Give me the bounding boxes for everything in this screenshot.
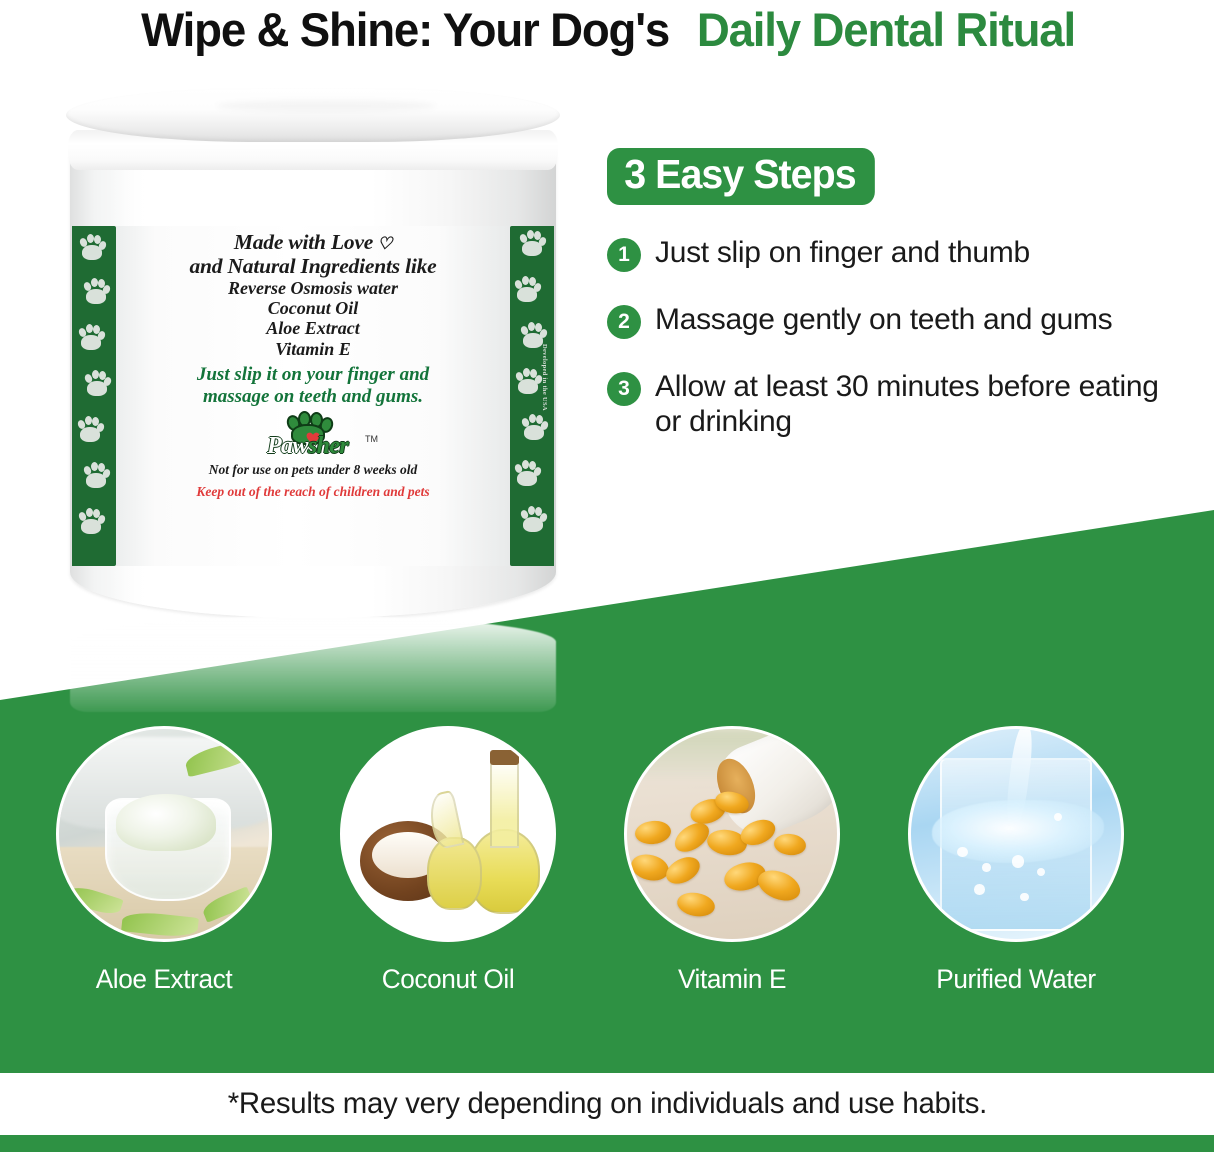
paw-print-icon <box>77 416 103 446</box>
page-title: Wipe & Shine: Your Dog's Daily Dental Ri… <box>0 0 1214 58</box>
headline-green-part: Daily Dental Ritual <box>697 6 1075 53</box>
jar-lid <box>66 88 560 142</box>
label-ingredient-item: Reverse Osmosis water <box>116 278 510 298</box>
paw-print-icon <box>521 414 547 444</box>
paw-print-icon <box>514 460 540 490</box>
paw-print-icon <box>78 324 104 354</box>
paw-print-icon <box>83 278 109 308</box>
product-jar: Made with Love♡ and Natural Ingredients … <box>58 88 568 678</box>
paw-print-icon <box>79 234 105 264</box>
headline-dark-part: Wipe & Shine: Your Dog's <box>141 6 669 53</box>
jar-lid-highlight <box>216 100 436 112</box>
paw-print-icon <box>515 368 541 398</box>
jar-label-face: Made with Love♡ and Natural Ingredients … <box>116 226 510 566</box>
label-instruction-line1: Just slip it on your finger and <box>116 364 510 386</box>
step-text: Just slip on finger and thumb <box>655 235 1030 270</box>
paw-print-icon <box>78 508 104 538</box>
label-ingredient-item: Vitamin E <box>116 339 510 359</box>
label-made-with-love: Made with Love♡ <box>116 230 510 254</box>
heart-icon: ♡ <box>377 234 392 253</box>
ingredient-card-purified-water: Purified Water <box>900 726 1132 1026</box>
step-item: 3 Allow at least 30 minutes before eatin… <box>607 369 1197 440</box>
jar-reflection <box>70 616 556 712</box>
ingredient-label: Coconut Oil <box>335 964 560 995</box>
ingredient-label: Aloe Extract <box>51 964 276 995</box>
paw-print-icon <box>83 462 109 492</box>
steps-panel: 3 Easy Steps 1 Just slip on finger and t… <box>607 148 1197 440</box>
vitamin-e-image <box>624 726 840 942</box>
label-natural-ingredients: and Natural Ingredients like <box>116 254 510 278</box>
brand-name-part1: Paw <box>267 433 308 459</box>
infographic-page: Wipe & Shine: Your Dog's Daily Dental Ri… <box>0 0 1214 1152</box>
step-number-badge: 3 <box>607 372 641 406</box>
paw-print-icon <box>520 506 546 536</box>
brand-name: Pawsher <box>267 433 348 460</box>
disclaimer-text: *Results may very depending on individua… <box>227 1087 986 1121</box>
ingredients-row: Aloe Extract Coconut Oil <box>0 726 1214 1026</box>
label-paw-strip-left <box>72 226 116 566</box>
label-caution: Keep out of the reach of children and pe… <box>116 484 510 499</box>
disclaimer-band: *Results may very depending on individua… <box>0 1073 1214 1135</box>
label-side-text: Developed in the USA <box>541 344 548 411</box>
label-line1-text: Made with Love <box>234 230 373 254</box>
coconut-oil-image <box>340 726 556 942</box>
trademark-icon: TM <box>365 434 378 444</box>
step-number-badge: 2 <box>607 305 641 339</box>
step-text: Massage gently on teeth and gums <box>655 302 1112 337</box>
paw-print-icon <box>514 276 540 306</box>
label-ingredient-item: Aloe Extract <box>116 318 510 338</box>
paw-print-icon <box>519 230 545 260</box>
brand-logo: Pawsher TM <box>116 412 510 458</box>
step-text: Allow at least 30 minutes before eating … <box>655 369 1175 440</box>
aloe-extract-image <box>56 726 272 942</box>
label-ingredient-item: Coconut Oil <box>116 298 510 318</box>
purified-water-image <box>908 726 1124 942</box>
jar-label: Made with Love♡ and Natural Ingredients … <box>72 226 554 566</box>
ingredient-card-aloe-extract: Aloe Extract <box>48 726 280 1026</box>
paw-print-icon <box>84 370 110 400</box>
label-warning: Not for use on pets under 8 weeks old <box>116 462 510 477</box>
step-item: 1 Just slip on finger and thumb <box>607 235 1197 272</box>
ingredient-card-coconut-oil: Coconut Oil <box>332 726 564 1026</box>
label-paw-strip-right: Developed in the USA <box>510 226 554 566</box>
steps-title-badge: 3 Easy Steps <box>607 148 875 205</box>
step-number-badge: 1 <box>607 238 641 272</box>
ingredient-label: Purified Water <box>903 964 1128 995</box>
step-item: 2 Massage gently on teeth and gums <box>607 302 1197 339</box>
ingredient-card-vitamin-e: Vitamin E <box>616 726 848 1026</box>
brand-name-part2: sher <box>308 433 348 459</box>
ingredient-label: Vitamin E <box>619 964 844 995</box>
bottom-green-bar <box>0 1135 1214 1152</box>
label-instruction-line2: massage on teeth and gums. <box>116 386 510 408</box>
